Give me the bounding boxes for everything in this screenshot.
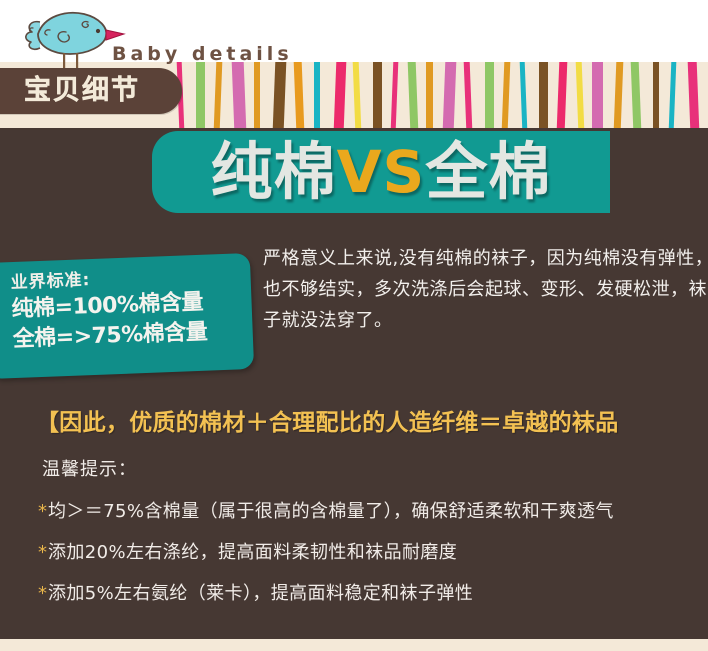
decorative-stripe [575, 62, 584, 128]
decorative-stripe [426, 62, 433, 128]
decorative-stripe [519, 62, 527, 128]
decorative-stripe [442, 62, 456, 128]
decorative-stripe [272, 62, 286, 128]
decorative-stripe [333, 62, 346, 128]
list-item: * 均＞＝75%含棉量（属于很高的含棉量了），确保舒适柔软和干爽透气 [38, 497, 698, 538]
decorative-stripe [407, 62, 418, 128]
title-segment-left: 纯棉 [211, 139, 337, 205]
page-header: Baby details 宝贝细节 [0, 0, 708, 128]
decorative-stripe [613, 62, 623, 128]
decorative-stripe [539, 62, 548, 128]
main-title: 纯棉 VS 全棉 [152, 131, 610, 213]
decorative-stripe [485, 62, 494, 128]
list-item: * 添加20%左右涤纶，提高面料柔韧性和袜品耐磨度 [38, 538, 698, 579]
title-segment-right: 全棉 [425, 139, 551, 205]
decorative-stripe [630, 62, 641, 128]
list-item: * 添加5%左右氨纶（莱卡），提高面料稳定和袜子弹性 [38, 579, 698, 620]
title-segment-accent: VS [337, 139, 426, 205]
decorative-stripe [352, 62, 361, 128]
tab-baby-details[interactable]: 宝贝细节 [0, 68, 182, 114]
decorative-stripe [373, 62, 382, 128]
decorative-stripe [592, 62, 603, 128]
footer-strip [0, 639, 708, 651]
decorative-stripe [196, 62, 205, 128]
tab-baby-details-label: 宝贝细节 [24, 74, 140, 108]
decorative-stripe [556, 62, 567, 128]
main-title-banner: 纯棉 VS 全棉 [152, 131, 610, 213]
decorative-stripe [314, 62, 320, 128]
list-item-label: 添加5%左右氨纶（莱卡），提高面料稳定和袜子弹性 [48, 579, 473, 605]
bullet-marker-icon: * [38, 544, 47, 562]
decorative-stripe [501, 62, 510, 128]
decorative-stripe [293, 62, 304, 128]
bullet-marker-icon: * [38, 585, 47, 603]
decorative-stripe [390, 62, 398, 128]
bullet-marker-icon: * [38, 503, 47, 521]
header-romanized-label: Baby details [112, 43, 293, 65]
list-item-label: 添加20%左右涤纶，提高面料柔韧性和袜品耐磨度 [48, 538, 457, 564]
decorative-stripe [653, 62, 659, 128]
decorative-stripe [463, 62, 472, 128]
intro-paragraph: 严格意义上来说,没有纯棉的袜子，因为纯棉没有弹性，也不够结实，多次洗涤后会起球、… [263, 243, 708, 336]
decorative-stripe [687, 62, 699, 128]
decorative-stripe [213, 62, 222, 128]
decorative-stripe [231, 62, 246, 128]
tips-heading: 温馨提示： [42, 455, 137, 481]
industry-standard-card-body: 业界标准: 纯棉=100%棉含量 全棉=>75%棉含量 [10, 262, 245, 355]
industry-standard-card: 业界标准: 纯棉=100%棉含量 全棉=>75%棉含量 [0, 253, 254, 379]
tips-list: * 均＞＝75%含棉量（属于很高的含棉量了），确保舒适柔软和干爽透气 * 添加2… [38, 497, 698, 620]
decorative-stripe [254, 62, 260, 128]
page-root: Baby details 宝贝细节 纯棉 VS 全棉 业界标准: 纯棉=100%… [0, 0, 708, 651]
conclusion-line: 【因此，优质的棉材＋合理配比的人造纤维＝卓越的袜品 [36, 403, 708, 437]
decorative-stripe [668, 62, 676, 128]
list-item-label: 均＞＝75%含棉量（属于很高的含棉量了），确保舒适柔软和干爽透气 [48, 497, 614, 523]
